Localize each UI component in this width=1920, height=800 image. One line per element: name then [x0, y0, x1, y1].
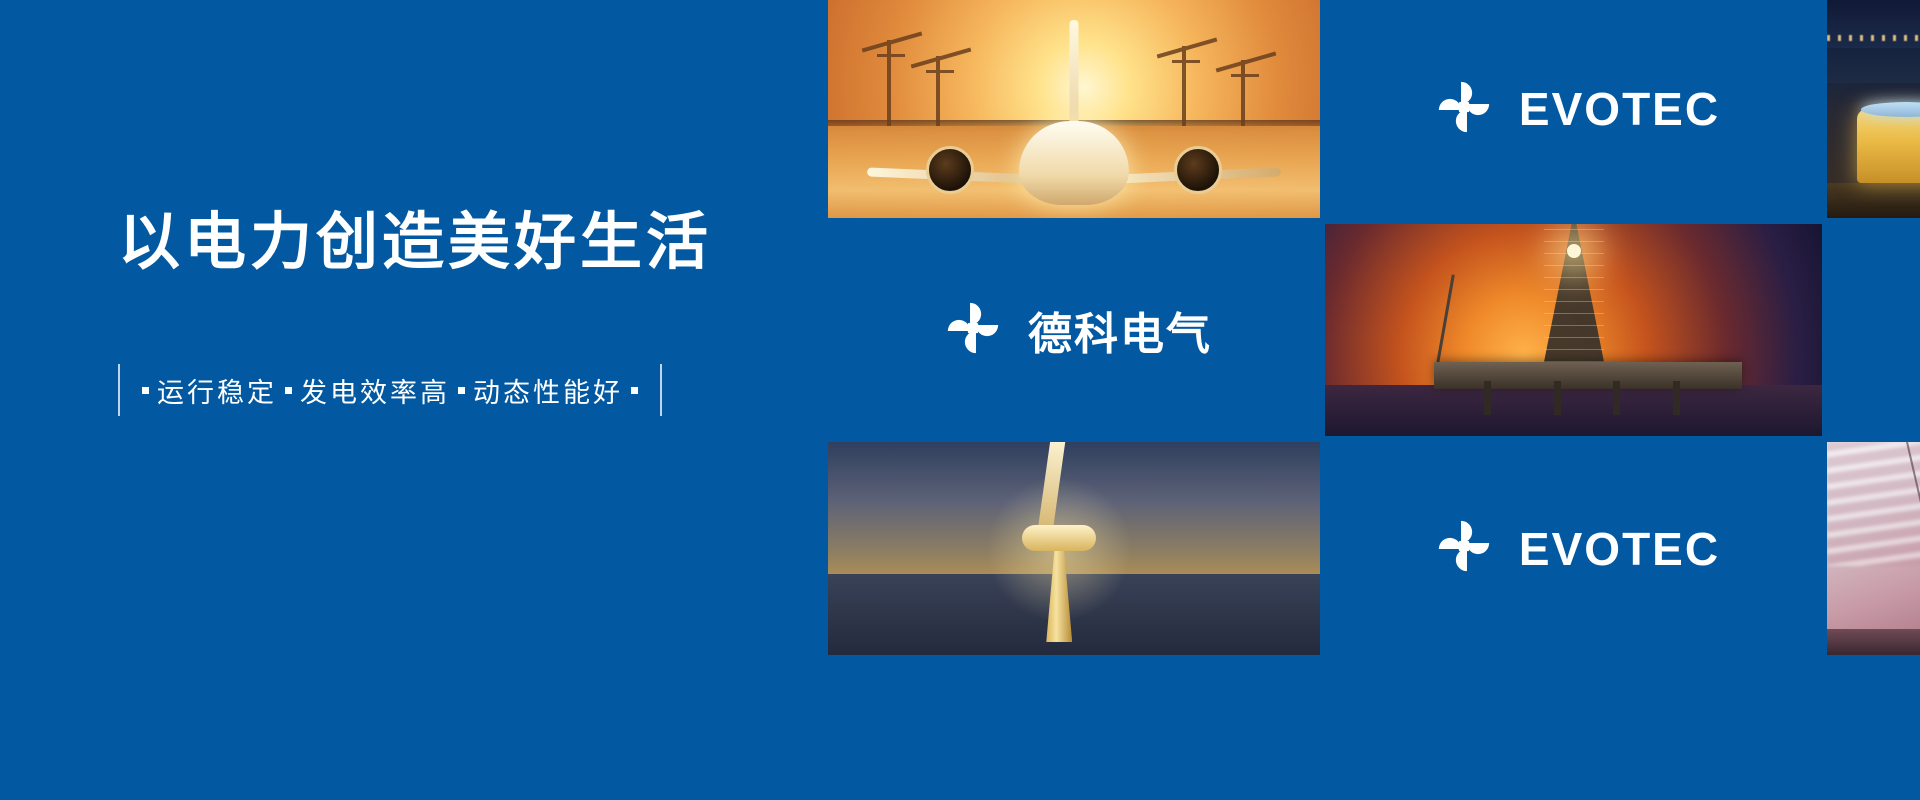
evotec-pinwheel-logo-icon [1427, 509, 1501, 588]
divider-right [660, 364, 662, 416]
logo-deke-right: 德科电气 [1827, 224, 1920, 436]
feature-item-2: 发电效率高 [300, 371, 450, 410]
oil-tank-farm-illustration [1827, 0, 1920, 218]
logo-wordmark-latin: EVOTEC [1519, 82, 1720, 136]
high-speed-train-illustration [1827, 442, 1920, 655]
bullet-square-icon [142, 387, 149, 394]
feature-item-1: 运行稳定 [157, 371, 277, 410]
offshore-rig-illustration [1325, 224, 1822, 436]
bullet-square-icon [458, 387, 465, 394]
photo-offshore-rig [1325, 224, 1822, 436]
page-title: 以电力创造美好生活 [118, 208, 712, 277]
photo-oil-tank-farm [1827, 0, 1920, 218]
airplane-port-illustration [828, 0, 1320, 218]
promotional-banner: 以电力创造美好生活 运行稳定 发电效率高 动态性能好 [0, 0, 1920, 800]
photo-airplane-port [828, 0, 1320, 218]
bullet-square-icon [631, 387, 638, 394]
logo-wordmark-cjk: 德科电气 [1028, 298, 1212, 362]
evotec-pinwheel-logo-icon [936, 291, 1010, 370]
subtitle-feature-list: 运行稳定 发电效率高 动态性能好 [118, 360, 662, 420]
feature-item-3: 动态性能好 [473, 371, 623, 410]
banner-text-block: 以电力创造美好生活 运行稳定 发电效率高 动态性能好 [0, 0, 828, 800]
wind-turbine-illustration [828, 442, 1320, 655]
logo-evotec-bottom: EVOTEC [1325, 442, 1822, 655]
logo-wordmark-latin: EVOTEC [1519, 522, 1720, 576]
image-logo-grid: EVOTEC [828, 0, 1920, 800]
photo-high-speed-train [1827, 442, 1920, 655]
logo-evotec-top: EVOTEC [1325, 0, 1822, 218]
photo-wind-turbine [828, 442, 1320, 655]
evotec-pinwheel-logo-icon [1427, 70, 1501, 149]
logo-deke-left: 德科电气 [828, 224, 1320, 436]
bullet-square-icon [285, 387, 292, 394]
